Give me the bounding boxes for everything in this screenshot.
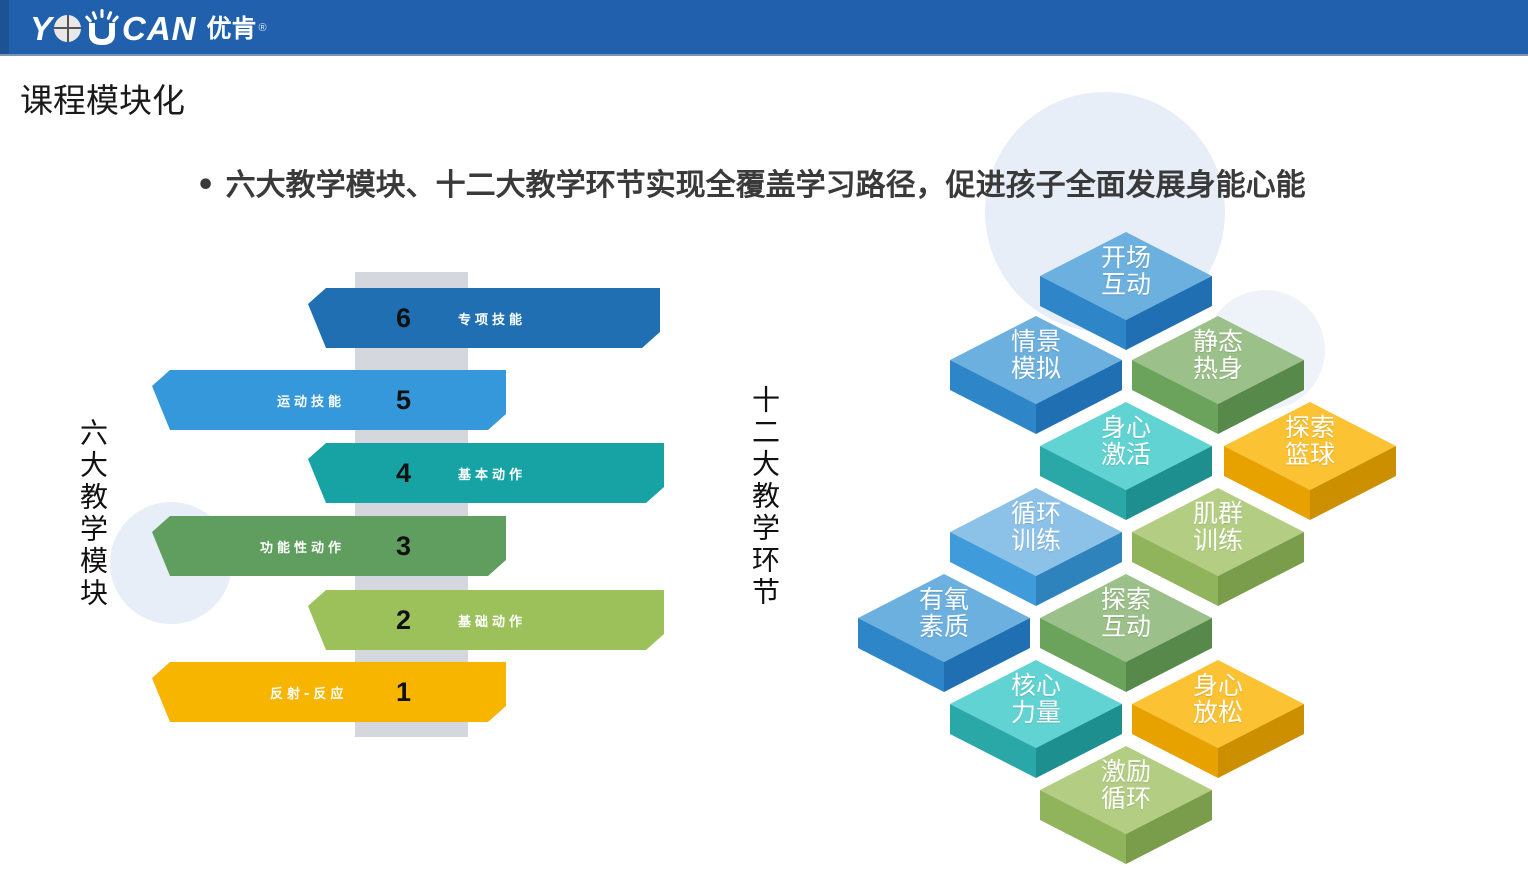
session-block-12[interactable]: 激励循环 xyxy=(1038,744,1214,876)
pyramid-bar-6-number: 6 xyxy=(396,303,411,334)
pyramid-bar-6-label: 专项技能 xyxy=(458,309,526,328)
pyramid-bar-1[interactable]: 反射-反应 1 xyxy=(152,662,506,722)
pyramid-bar-2[interactable]: 2 基础动作 xyxy=(308,590,664,650)
pyramid-bar-1-number: 1 xyxy=(396,677,411,708)
pyramid-bar-5-label: 运动技能 xyxy=(277,391,345,410)
pyramid-bar-4-number: 4 xyxy=(396,458,411,489)
pyramid-bar-5[interactable]: 运动技能 5 xyxy=(152,370,506,430)
pyramid-bar-4[interactable]: 4 基本动作 xyxy=(308,443,664,503)
pyramid-bar-3-label: 功能性动作 xyxy=(260,537,345,556)
six-modules-side-label: 六大教学模块 xyxy=(72,418,112,610)
pyramid-bar-4-label: 基本动作 xyxy=(458,464,526,483)
twelve-sessions-side-label: 十二大教学环节 xyxy=(744,385,784,609)
six-modules-pyramid: 6 专项技能 运动技能 5 4 基本动作 功能性动作 3 2 基础动作 反射-反… xyxy=(0,0,760,774)
pyramid-bar-1-label: 反射-反应 xyxy=(270,683,347,702)
pyramid-bar-6[interactable]: 6 专项技能 xyxy=(308,288,660,348)
pyramid-bar-2-label: 基础动作 xyxy=(458,611,526,630)
twelve-sessions-isometric-diagram: 开场互动情景模拟静态热身身心激活探索篮球循环训练肌群训练有氧素质探索互动核心力量… xyxy=(830,220,1528,774)
pyramid-bar-3[interactable]: 功能性动作 3 xyxy=(152,516,506,576)
pyramid-bar-5-number: 5 xyxy=(396,385,411,416)
pyramid-bar-3-number: 3 xyxy=(396,531,411,562)
pyramid-bar-2-number: 2 xyxy=(396,605,411,636)
